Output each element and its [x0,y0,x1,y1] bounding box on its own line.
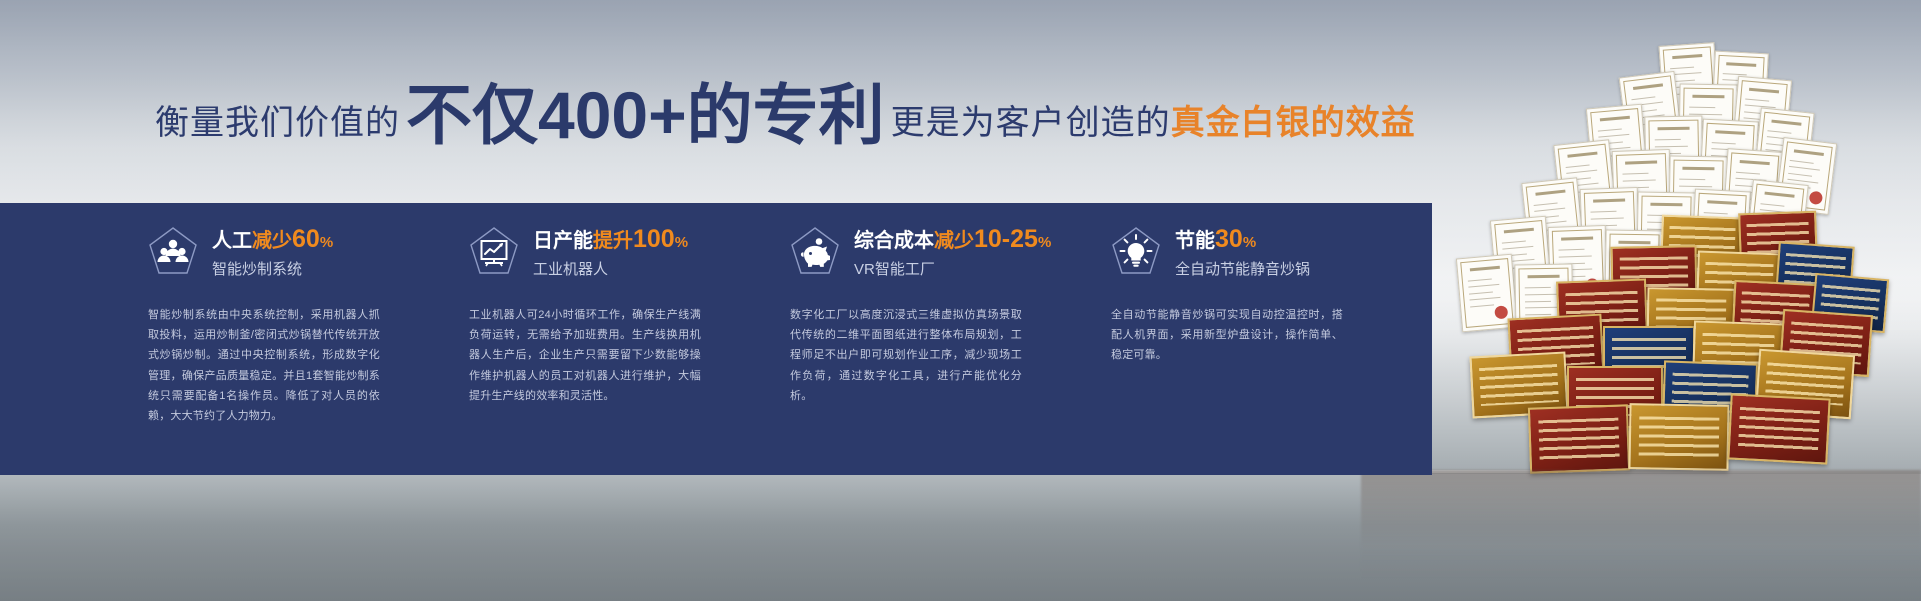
award-plaque [1611,245,1698,302]
feature-title-prefix: 人工 [212,230,252,252]
award-plaque [1727,393,1830,464]
sea-shimmer [0,474,1921,601]
feature-body: 全自动节能静音炒锅可实现自动控温控时，搭配人机界面，采用新型炉盘设计，操作简单、… [1111,305,1343,366]
award-plaque [1628,403,1729,471]
certificate-paper [1604,229,1663,306]
certificate-paper [1586,104,1648,183]
feature-title-prefix: 日产能 [533,230,593,252]
certificate-paper [1456,254,1518,333]
certificate-paper [1636,191,1695,268]
award-plaque [1528,404,1630,473]
feature-title-number: 10-25 [974,225,1038,253]
feature-title-number: 60 [292,225,320,253]
certificate-paper [1553,139,1616,218]
feature-list: 人工减少60% 智能炒制系统 智能炒制系统由中央系统控制，采用机器人抓取投料，运… [0,203,1432,475]
feature-title-highlight: 提升 [593,230,633,252]
certificate-paper [1619,71,1684,151]
award-plaque [1567,366,1663,428]
headline-lead: 衡量我们价值的 [155,95,400,144]
award-plaque [1662,360,1758,425]
feature-header: 节能30% 全自动节能静音炒锅 [1111,225,1432,279]
certificate-reflection [1361,470,1921,580]
feature-item-4[interactable]: 节能30% 全自动节能静音炒锅 全自动节能静音炒锅可实现自动控温控时，搭配人机界… [1111,203,1432,475]
certificate-paper [1745,179,1808,258]
certificate-paper [1699,119,1759,196]
award-plaque [1755,349,1855,420]
banner-root: 衡量我们价值的 不仅400+的专利 更是为客户创造的 真金白银的效益 [0,0,1921,601]
feature-titles: 日产能提升100% 工业机器人 [533,225,688,279]
certificate-paper [1521,177,1584,256]
certificate-paper [1580,187,1641,265]
award-plaque [1811,273,1889,333]
feature-subtitle: 智能炒制系统 [212,261,333,279]
award-plaque [1507,314,1604,381]
feature-title: 节能30% [1175,225,1310,254]
feature-title-prefix: 节能 [1175,230,1215,252]
certificate-paper [1644,115,1703,192]
award-plaque [1660,215,1744,272]
feature-title: 日产能提升100% [533,225,688,254]
feature-subtitle: 全自动节能静音炒锅 [1175,261,1310,279]
feature-header: 综合成本减少10-25% VR智能工厂 [790,225,1111,279]
feature-title: 人工减少60% [212,225,333,254]
award-plaque [1775,241,1854,298]
headline-highlight: 真金白银的效益 [1171,95,1416,144]
certificate-paper [1753,107,1814,184]
feature-body: 数字化工厂以高度沉浸式三维虚拟仿真场景取代传统的二维平面图纸进行整体布局规划，工… [790,305,1022,407]
people-group-icon [148,226,198,278]
feature-header: 日产能提升100% 工业机器人 [469,225,790,279]
certificate-paper [1658,42,1719,120]
feature-title: 综合成本减少10-25% [854,225,1051,254]
certificate-paper [1722,148,1783,226]
certificate-paper [1775,137,1837,215]
award-plaque [1469,352,1568,419]
award-plaque [1556,278,1648,339]
certificate-paper [1514,263,1573,340]
certificate-wall [1361,40,1921,510]
page-title: 衡量我们价值的 不仅400+的专利 更是为客户创造的 真金白银的效益 [155,78,1416,144]
feature-title-unit: % [1243,234,1256,251]
feature-body: 工业机器人可24小时循环工作，确保生产线满负荷运转，无需给予加班费用。生产线换用… [469,305,701,407]
chart-board-icon [469,226,519,278]
feature-title-highlight: 减少 [934,230,974,252]
certificate-paper [1691,189,1751,266]
feature-title-number: 30 [1215,225,1243,253]
feature-item-3[interactable]: 综合成本减少10-25% VR智能工厂 数字化工厂以高度沉浸式三维虚拟仿真场景取… [790,203,1111,475]
certificate-paper [1711,51,1769,126]
feature-panel: 人工减少60% 智能炒制系统 智能炒制系统由中央系统控制，采用机器人抓取投料，运… [0,203,1432,475]
headline-middle: 更是为客户创造的 [891,95,1171,144]
certificate-paper [1732,76,1792,152]
certificate-paper [1612,149,1673,227]
feature-titles: 节能30% 全自动节能静音炒锅 [1175,225,1310,279]
feature-title-prefix: 综合成本 [854,230,934,252]
feature-item-2[interactable]: 日产能提升100% 工业机器人 工业机器人可24小时循环工作，确保生产线满负荷运… [469,203,790,475]
lightbulb-icon [1111,226,1161,278]
award-plaque [1696,251,1782,308]
feature-item-1[interactable]: 人工减少60% 智能炒制系统 智能炒制系统由中央系统控制，采用机器人抓取投料，运… [148,203,469,475]
feature-subtitle: 工业机器人 [533,261,688,279]
certificate-paper [1668,155,1727,232]
feature-title-number: 100 [633,225,675,253]
award-plaque [1779,309,1873,377]
feature-header: 人工减少60% 智能炒制系统 [148,225,469,279]
certificate-paper [1548,225,1609,303]
award-plaque [1647,287,1736,345]
feature-subtitle: VR智能工厂 [854,261,1051,279]
feature-titles: 综合成本减少10-25% VR智能工厂 [854,225,1051,279]
feature-title-unit: % [1038,234,1051,251]
feature-title-unit: % [675,234,688,251]
feature-body: 智能炒制系统由中央系统控制，采用机器人抓取投料，运用炒制釜/密闭式炒锅替代传统开… [148,305,380,427]
feature-title-highlight: 减少 [252,230,292,252]
feature-titles: 人工减少60% 智能炒制系统 [212,225,333,279]
award-plaque [1603,326,1695,386]
piggy-bank-icon [790,226,840,278]
award-plaque [1692,320,1784,383]
award-plaque [1738,211,1818,266]
certificate-paper [1490,216,1552,295]
headline-emphasis: 不仅400+的专利 [406,82,885,148]
certificate-paper [1678,83,1737,160]
feature-title-unit: % [320,234,333,251]
award-plaque [1732,280,1819,340]
